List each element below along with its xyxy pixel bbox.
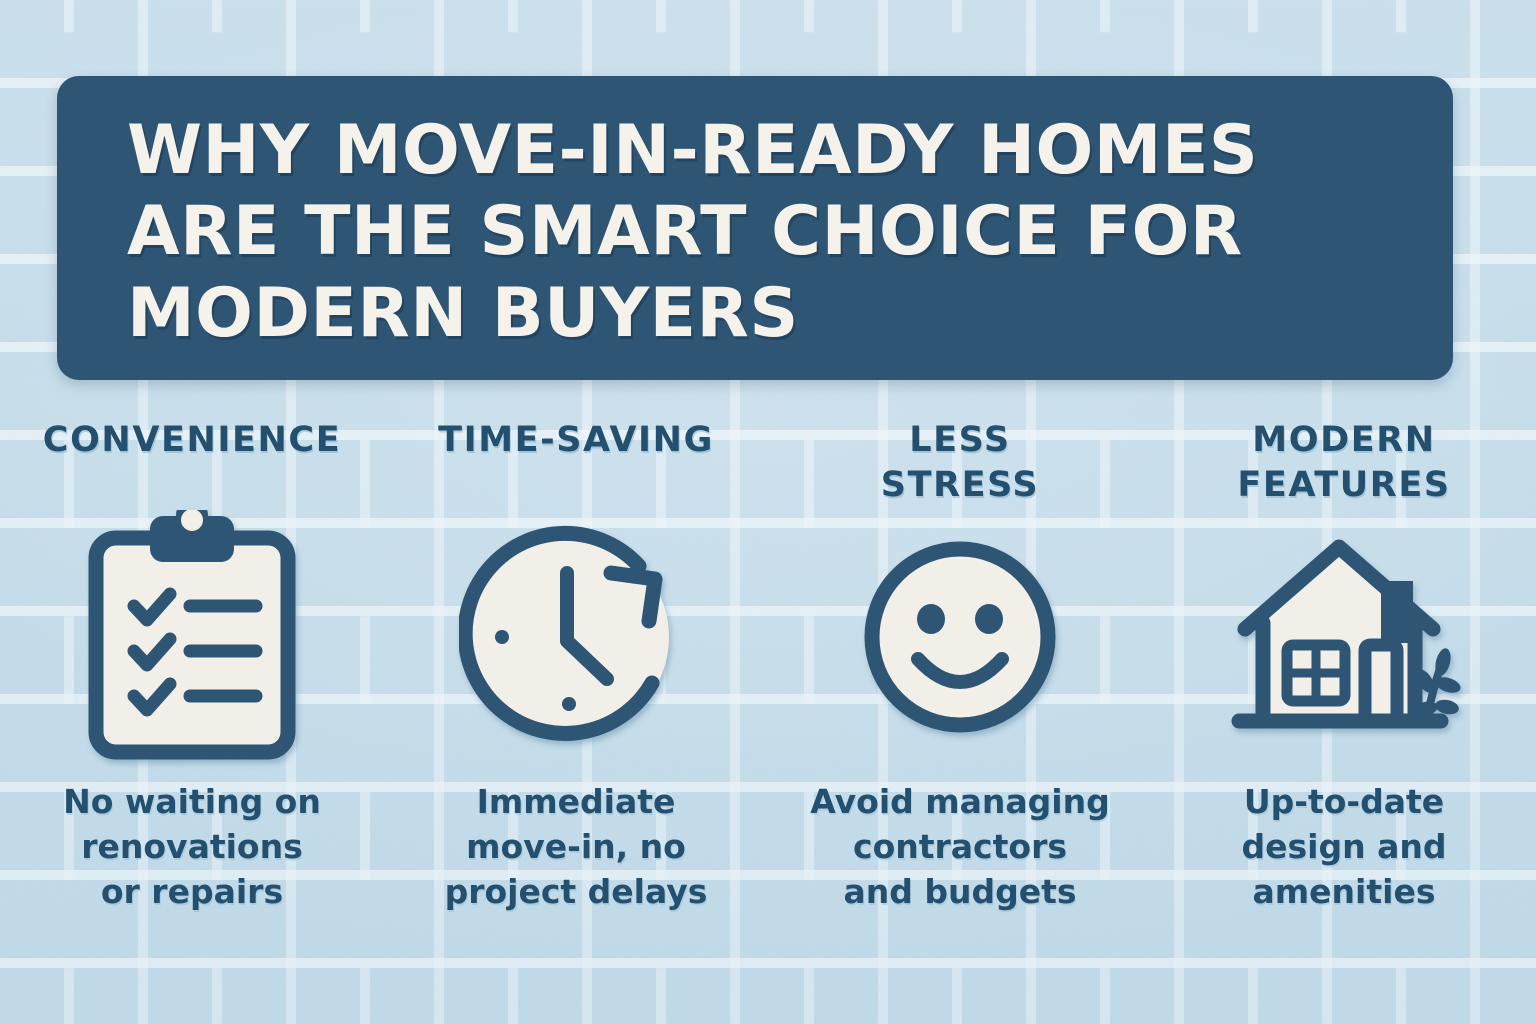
infographic-poster: WHY MOVE-IN-READY HOMES ARE THE SMART CH… [0,0,1536,1024]
caption-line-1: Immediate [477,782,676,821]
benefit-column-time-saving: TIME-SAVING Immediate [384,418,768,915]
house-plant-icon [1219,512,1469,762]
benefit-columns: CONVENIENCE [0,418,1536,978]
benefit-column-convenience: CONVENIENCE [0,418,384,915]
column-heading-modern-features: MODERN FEATURES [1237,418,1450,510]
column-caption-modern-features: Up-to-date design and amenities [1242,780,1447,915]
caption-line-3: project delays [445,872,708,911]
title-banner: WHY MOVE-IN-READY HOMES ARE THE SMART CH… [57,76,1453,380]
benefit-column-modern-features: MODERN FEATURES [1152,418,1536,915]
caption-line-3: or repairs [101,872,283,911]
page-title: WHY MOVE-IN-READY HOMES ARE THE SMART CH… [127,110,1407,355]
caption-line-2: contractors [853,827,1067,866]
caption-line-2: renovations [81,827,303,866]
heading-line-2: STRESS [881,465,1039,505]
column-heading-less-stress: LESS STRESS [881,418,1039,510]
title-line-1: WHY MOVE-IN-READY HOMES [127,111,1258,190]
column-heading-time-saving: TIME-SAVING [438,418,714,510]
column-heading-convenience: CONVENIENCE [43,418,341,510]
caption-line-3: and budgets [843,872,1076,911]
title-line-2: ARE THE SMART CHOICE FOR [127,192,1243,271]
benefit-column-less-stress: LESS STRESS Avoid managing contractors a… [768,418,1152,915]
title-line-3: MODERN BUYERS [127,274,799,353]
heading-line-1: MODERN [1252,420,1435,460]
heading-line-2: FEATURES [1237,465,1450,505]
clipboard-checklist-icon [84,512,300,762]
caption-line-1: Up-to-date [1244,782,1444,821]
caption-line-1: Avoid managing [810,782,1109,821]
caption-line-2: move-in, no [466,827,686,866]
caption-line-3: amenities [1253,872,1436,911]
column-caption-time-saving: Immediate move-in, no project delays [445,780,708,915]
heading-line-1: LESS [909,420,1010,460]
clock-arrow-icon [459,512,693,762]
caption-line-1: No waiting on [63,782,321,821]
caption-line-2: design and [1242,827,1447,866]
column-caption-less-stress: Avoid managing contractors and budgets [810,780,1109,915]
column-caption-convenience: No waiting on renovations or repairs [63,780,321,915]
smiley-face-icon [858,512,1062,762]
